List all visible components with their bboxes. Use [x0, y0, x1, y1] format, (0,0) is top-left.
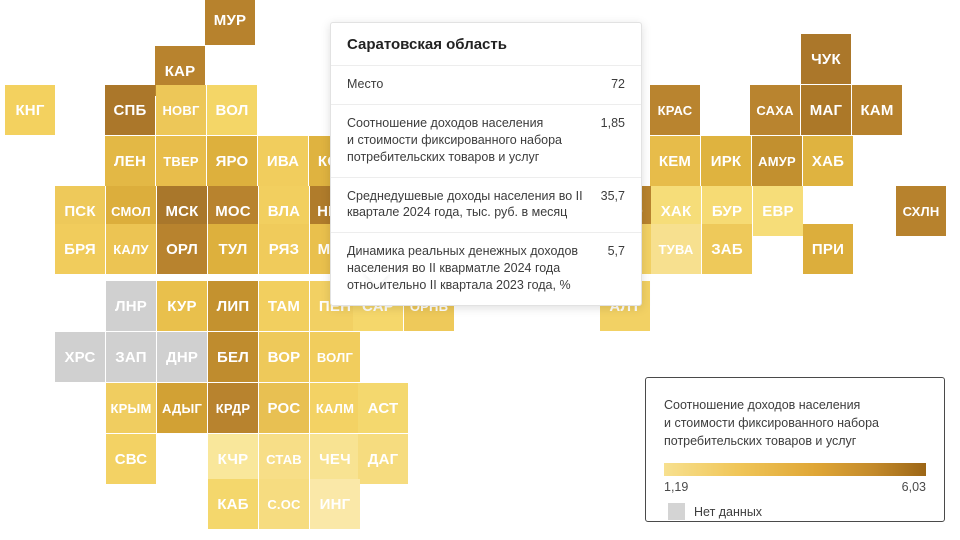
map-tile-label: КАБ — [217, 497, 248, 512]
map-tile-label: КРЫМ — [111, 402, 152, 415]
tooltip-row-label: Соотношение доходов населения и стоимост… — [347, 115, 601, 166]
map-tile-label: КАЛМ — [316, 402, 354, 415]
map-tile-label: КАМ — [860, 103, 893, 118]
map-tile-label: ИРК — [711, 154, 742, 169]
map-tile-крдр[interactable]: КРДР — [208, 383, 258, 433]
map-tile-схлн[interactable]: СХЛН — [896, 186, 946, 236]
map-tile-label: АДЫГ — [162, 402, 202, 415]
legend-nodata-entry: Нет данных — [668, 503, 926, 520]
legend-max-value: 6,03 — [902, 480, 926, 494]
nodata-swatch-icon — [668, 503, 685, 520]
tooltip-pointer — [363, 272, 391, 286]
map-tile-сос[interactable]: С.ОС — [259, 479, 309, 529]
map-tile-label: ЗАБ — [711, 242, 743, 257]
map-tile-label: АСТ — [368, 401, 399, 416]
map-tile-инг[interactable]: ИНГ — [310, 479, 360, 529]
map-tile-label: ТАМ — [268, 299, 300, 314]
tooltip-row-value: 5,7 — [608, 243, 625, 260]
map-tile-label: ВОЛГ — [317, 351, 353, 364]
tooltip-row: Среднедушевые доходы населения во II ква… — [331, 178, 641, 234]
map-tile-там[interactable]: ТАМ — [259, 281, 309, 331]
map-tile-label: КРДР — [216, 402, 251, 415]
map-tile-кам[interactable]: КАМ — [852, 85, 902, 135]
map-tile-адыг[interactable]: АДЫГ — [157, 383, 207, 433]
map-tile-label: БЕЛ — [217, 350, 249, 365]
map-tile-кем[interactable]: КЕМ — [650, 136, 700, 186]
map-tile-ряз[interactable]: РЯЗ — [259, 224, 309, 274]
map-tile-label: КАЛУ — [113, 243, 149, 256]
legend-scale: 1,19 6,03 — [664, 480, 926, 494]
tooltip-row: Место72 — [331, 66, 641, 105]
map-tile-орл[interactable]: ОРЛ — [157, 224, 207, 274]
map-tile-чеч[interactable]: ЧЕЧ — [310, 434, 360, 484]
map-tile-амур[interactable]: АМУР — [752, 136, 802, 186]
tooltip-row-value: 35,7 — [601, 188, 625, 205]
map-tile-вор[interactable]: ВОР — [259, 332, 309, 382]
map-tile-ива[interactable]: ИВА — [258, 136, 308, 186]
map-tile-label: ЗАП — [115, 350, 146, 365]
map-tile-кчр[interactable]: КЧР — [208, 434, 258, 484]
map-tile-label: ЧУК — [811, 52, 841, 67]
legend-nodata-label: Нет данных — [694, 505, 762, 519]
region-tooltip: Саратовская область Место72Соотношение д… — [330, 22, 642, 306]
map-tile-аст[interactable]: АСТ — [358, 383, 408, 433]
map-tile-мур[interactable]: МУР — [205, 0, 255, 45]
map-tile-label: ХАБ — [812, 154, 844, 169]
map-tile-саха[interactable]: САХА — [750, 85, 800, 135]
map-tile-лен[interactable]: ЛЕН — [105, 136, 155, 186]
map-tile-label: ДАГ — [368, 452, 399, 467]
map-tile-label: ДНР — [166, 350, 198, 365]
map-tile-label: ЕВР — [762, 204, 793, 219]
map-tile-хрс[interactable]: ХРС — [55, 332, 105, 382]
map-tile-label: СТАВ — [266, 453, 302, 466]
map-tile-label: КЧР — [218, 452, 249, 467]
map-tile-label: СХЛН — [903, 205, 940, 218]
tooltip-row-label: Динамика реальных денежных доходов насел… — [347, 243, 608, 294]
map-tile-крас[interactable]: КРАС — [650, 85, 700, 135]
map-tile-label: КАР — [165, 64, 196, 79]
map-tile-label: КЕМ — [659, 154, 691, 169]
map-tile-label: БРЯ — [64, 242, 96, 257]
map-tile-свс[interactable]: СВС — [106, 434, 156, 484]
map-tile-чук[interactable]: ЧУК — [801, 34, 851, 84]
map-tile-лнр[interactable]: ЛНР — [106, 281, 156, 331]
map-tile-label: КРАС — [658, 104, 693, 117]
map-tile-крым[interactable]: КРЫМ — [106, 383, 156, 433]
map-tile-label: МСК — [165, 204, 198, 219]
legend-min-value: 1,19 — [664, 480, 688, 494]
map-tile-label: ТУЛ — [218, 242, 247, 257]
map-tile-волг[interactable]: ВОЛГ — [310, 332, 360, 382]
map-tile-label: СМОЛ — [111, 205, 151, 218]
map-tile-label: КУР — [167, 299, 196, 314]
map-tile-label: ВОЛ — [216, 103, 249, 118]
map-tile-бел[interactable]: БЕЛ — [208, 332, 258, 382]
map-tile-label: РЯЗ — [269, 242, 299, 257]
tooltip-title: Саратовская область — [331, 23, 641, 66]
map-tile-тул[interactable]: ТУЛ — [208, 224, 258, 274]
map-tile-каб[interactable]: КАБ — [208, 479, 258, 529]
map-tile-зап[interactable]: ЗАП — [106, 332, 156, 382]
map-tile-при[interactable]: ПРИ — [803, 224, 853, 274]
map-tile-label: МАГ — [810, 103, 842, 118]
map-tile-label: АМУР — [758, 155, 796, 168]
map-tile-днр[interactable]: ДНР — [157, 332, 207, 382]
map-tile-label: РОС — [268, 401, 301, 416]
tooltip-row-label: Среднедушевые доходы населения во II ква… — [347, 188, 601, 222]
map-tile-бря[interactable]: БРЯ — [55, 224, 105, 274]
map-tile-кур[interactable]: КУР — [157, 281, 207, 331]
map-tile-евр[interactable]: ЕВР — [753, 186, 803, 236]
legend-title: Соотношение доходов населения и стоимост… — [646, 378, 944, 450]
map-tile-label: ВЛА — [268, 204, 300, 219]
map-tile-label: ИНГ — [320, 497, 351, 512]
tooltip-row-value: 72 — [611, 76, 625, 93]
map-tile-рос[interactable]: РОС — [259, 383, 309, 433]
tooltip-row-value: 1,85 — [601, 115, 625, 132]
map-tile-твер[interactable]: ТВЕР — [156, 136, 206, 186]
map-tile-label: ЧЕЧ — [319, 452, 351, 467]
map-tile-label: ЛИП — [217, 299, 250, 314]
map-tile-маг[interactable]: МАГ — [801, 85, 851, 135]
map-tile-label: ТУВА — [659, 243, 694, 256]
map-tile-label: КНГ — [15, 103, 44, 118]
map-tile-калм[interactable]: КАЛМ — [310, 383, 360, 433]
map-tile-вол[interactable]: ВОЛ — [207, 85, 257, 135]
map-tile-label: ХРС — [64, 350, 95, 365]
map-tile-label: ВОР — [268, 350, 301, 365]
map-tile-тува[interactable]: ТУВА — [651, 224, 701, 274]
map-tile-label: С.ОС — [267, 498, 300, 511]
tooltip-rows: Место72Соотношение доходов населения и с… — [331, 66, 641, 305]
map-tile-ирк[interactable]: ИРК — [701, 136, 751, 186]
map-tile-label: СПБ — [114, 103, 147, 118]
map-tile-label: МУР — [214, 13, 246, 28]
tooltip-row: Соотношение доходов населения и стоимост… — [331, 105, 641, 178]
map-tile-label: ПРИ — [812, 242, 844, 257]
map-tile-калу[interactable]: КАЛУ — [106, 224, 156, 274]
map-tile-label: ЯРО — [216, 154, 249, 169]
map-tile-label: СВС — [115, 452, 148, 467]
map-tile-заб[interactable]: ЗАБ — [702, 224, 752, 274]
map-tile-label: ЛЕН — [114, 154, 146, 169]
map-tile-label: БУР — [712, 204, 742, 219]
map-legend: Соотношение доходов населения и стоимост… — [645, 377, 945, 522]
map-tile-даг[interactable]: ДАГ — [358, 434, 408, 484]
map-tile-label: ХАК — [661, 204, 692, 219]
map-tile-label: МОС — [215, 204, 251, 219]
map-tile-label: НОВГ — [162, 104, 199, 117]
map-tile-label: ТВЕР — [163, 155, 198, 168]
map-tile-label: САХА — [756, 104, 793, 117]
map-tile-label: ЛНР — [115, 299, 147, 314]
map-tile-став[interactable]: СТАВ — [259, 434, 309, 484]
map-tile-новг[interactable]: НОВГ — [156, 85, 206, 135]
map-tile-яро[interactable]: ЯРО — [207, 136, 257, 186]
map-tile-хаб[interactable]: ХАБ — [803, 136, 853, 186]
map-tile-лип[interactable]: ЛИП — [208, 281, 258, 331]
legend-gradient-bar — [664, 463, 926, 476]
map-tile-label: ПСК — [64, 204, 95, 219]
map-tile-label: ОРЛ — [166, 242, 198, 257]
tooltip-row-label: Место — [347, 76, 611, 93]
map-tile-спб[interactable]: СПБ — [105, 85, 155, 135]
map-tile-label: ИВА — [267, 154, 299, 169]
tooltip-row: Динамика реальных денежных доходов насел… — [331, 233, 641, 305]
map-tile-кнг[interactable]: КНГ — [5, 85, 55, 135]
